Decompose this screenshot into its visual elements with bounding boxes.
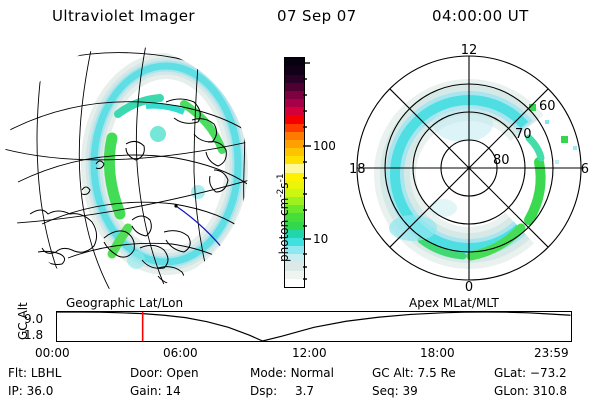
mlt-label-0: 0 — [465, 280, 473, 295]
observation-time: 04:00:00 UT — [432, 7, 529, 25]
field-gain: Gain: 14 — [130, 384, 250, 398]
field-door: Door: Open — [130, 366, 250, 380]
footer-row-2: IP: 36.0 Gain: 14 Dsp: 3.7 Seq: 39 GLon:… — [8, 384, 592, 398]
field-gain-label: Gain: — [130, 384, 162, 398]
apex-mlat-mlt-dial[interactable]: 12 18 6 0 60 70 80 — [343, 42, 595, 294]
mlt-label-6: 6 — [581, 162, 589, 177]
colorbar-unit-photon: photon cm — [277, 198, 291, 262]
field-dsp: Dsp: 3.7 — [250, 384, 372, 398]
geographic-map[interactable] — [8, 42, 266, 294]
field-door-label: Door: — [130, 366, 163, 380]
alt-tick-top: 9.0 — [24, 312, 43, 326]
field-glat-value: −73.2 — [530, 366, 567, 380]
colorbar-unit-exp1: -2 — [276, 189, 286, 198]
colorbar-ticks — [303, 57, 311, 286]
field-flt-label: Flt: — [8, 366, 27, 380]
mlt-label-18: 18 — [349, 162, 366, 177]
field-dsp-label: Dsp: — [250, 384, 277, 398]
pole-marker — [174, 204, 177, 207]
mlt-label-12: 12 — [461, 43, 478, 58]
geographic-caption: Geographic Lat/Lon — [66, 296, 183, 310]
field-mode-label: Mode: — [250, 366, 287, 380]
apex-caption: Apex MLat/MLT — [409, 296, 499, 310]
time-tick-2: 12:00 — [292, 346, 327, 360]
colorbar-tick-10: 10 — [313, 232, 328, 246]
footer-row-1: Flt: LBHL Door: Open Mode: Normal GC Alt… — [8, 366, 592, 380]
field-glat-label: GLat: — [494, 366, 526, 380]
mlt-spokes — [357, 56, 581, 280]
field-gcalt-label: GC Alt: — [372, 366, 414, 380]
observation-date: 07 Sep 07 — [277, 7, 357, 25]
mlat-label-60: 60 — [539, 99, 556, 114]
field-glon: GLon: 310.8 — [494, 384, 567, 398]
footer-metadata: Flt: LBHL Door: Open Mode: Normal GC Alt… — [8, 366, 592, 398]
aurora-emission-geographic — [94, 66, 238, 269]
gc-altitude-plot[interactable] — [56, 311, 572, 342]
time-tick-1: 06:00 — [163, 346, 198, 360]
time-tick-4: 23:59 — [534, 346, 569, 360]
field-gain-value: 14 — [165, 384, 180, 398]
alt-tick-bottom: 1.8 — [24, 328, 43, 342]
field-seq-value: 39 — [403, 384, 418, 398]
field-mode: Mode: Normal — [250, 366, 372, 380]
mlat-label-70: 70 — [515, 127, 532, 142]
colorbar-unit-s: s — [277, 182, 291, 188]
field-gcalt: GC Alt: 7.5 Re — [372, 366, 494, 380]
colorbar-unit-exp2: -1 — [276, 173, 286, 182]
field-flt: Flt: LBHL — [8, 366, 130, 380]
field-glon-value: 310.8 — [533, 384, 567, 398]
time-tick-3: 18:00 — [420, 346, 455, 360]
field-gcalt-value: 7.5 Re — [418, 366, 456, 380]
field-glat: GLat: −73.2 — [494, 366, 567, 380]
mlat-label-80: 80 — [493, 153, 510, 168]
field-dsp-value: 3.7 — [295, 384, 314, 398]
page-title: Ultraviolet Imager — [52, 7, 195, 25]
colorbar-tick-100: 100 — [313, 139, 336, 153]
field-ip-label: IP: — [8, 384, 23, 398]
field-seq-label: Seq: — [372, 384, 399, 398]
field-flt-value: LBHL — [31, 366, 62, 380]
field-ip-value: 36.0 — [27, 384, 54, 398]
time-tick-0: 00:00 — [35, 346, 70, 360]
field-door-value: Open — [167, 366, 199, 380]
field-ip: IP: 36.0 — [8, 384, 130, 398]
field-mode-value: Normal — [291, 366, 334, 380]
field-seq: Seq: 39 — [372, 384, 494, 398]
field-glon-label: GLon: — [494, 384, 529, 398]
